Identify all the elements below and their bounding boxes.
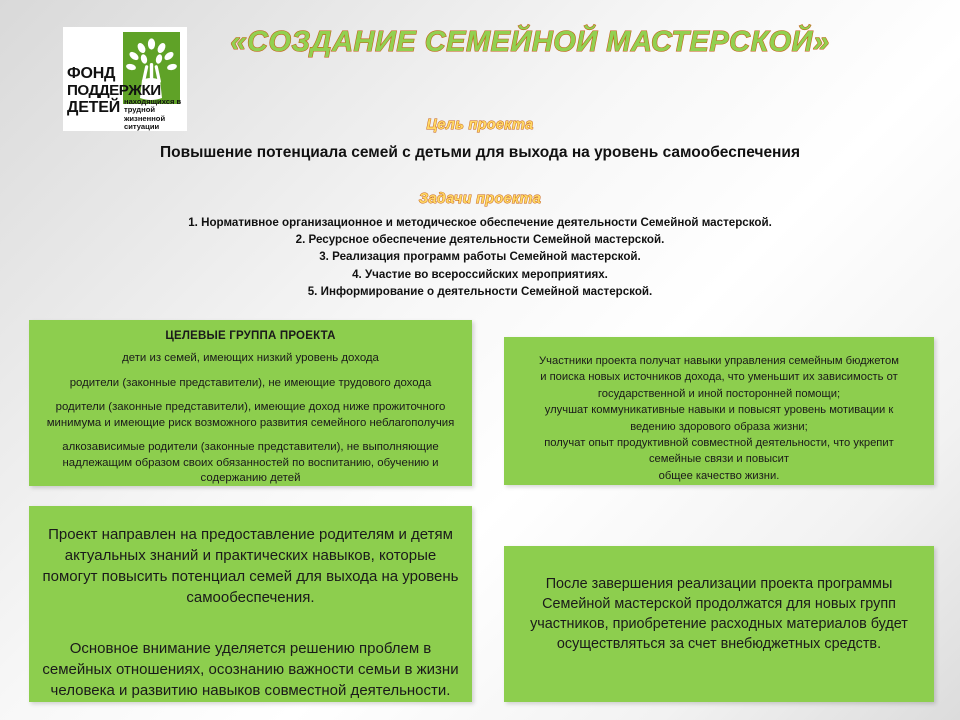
target-group-paragraph: дети из семей, имеющих низкий уровень до… xyxy=(37,351,464,367)
target-group-box: ЦЕЛЕВЫЕ ГРУППА ПРОЕКТА дети из семей, им… xyxy=(29,320,472,486)
target-group-paragraph: родители (законные представители), имеющ… xyxy=(37,400,464,431)
tasks-list: 1. Нормативное организационное и методич… xyxy=(0,214,960,300)
task-item: 4. Участие во всероссийских мероприятиях… xyxy=(0,266,960,283)
project-direction-paragraph: Проект направлен на предоставление родит… xyxy=(39,524,462,608)
task-item: 3. Реализация программ работы Семейной м… xyxy=(0,248,960,265)
project-direction-paragraph: Основное внимание уделяется решению проб… xyxy=(39,638,462,701)
target-group-body: дети из семей, имеющих низкий уровень до… xyxy=(37,351,464,487)
outcome-line: государственной и иной посторонней помощ… xyxy=(510,386,928,402)
fund-logo-line1: ФОНД xyxy=(67,65,183,82)
goal-heading: Цель проекта xyxy=(0,117,960,133)
target-group-paragraph: родители (законные представители), не им… xyxy=(37,376,464,392)
outcome-line: Участники проекта получат навыки управле… xyxy=(510,353,928,369)
outcome-line: и поиска новых источников дохода, что ум… xyxy=(510,369,928,385)
tasks-heading: Задачи проекта xyxy=(0,191,960,207)
outcome-line: получат опыт продуктивной совместной дея… xyxy=(510,435,928,451)
outcome-line: ведению здорового образа жизни; xyxy=(510,419,928,435)
sustainability-box: После завершения реализации проекта прог… xyxy=(504,546,934,702)
page-title: «СОЗДАНИЕ СЕМЕЙНОЙ МАСТЕРСКОЙ» xyxy=(190,26,870,59)
fund-logo: ФОНД ПОДДЕРЖКИ ДЕТЕЙ находящихся в трудн… xyxy=(63,27,187,131)
sustainability-body: После завершения реализации проекта прог… xyxy=(512,574,926,654)
target-group-paragraph: алкозависимые родители (законные предста… xyxy=(37,440,464,487)
target-group-title: ЦЕЛЕВЫЕ ГРУППА ПРОЕКТА xyxy=(37,330,464,342)
task-item: 5. Информирование о деятельности Семейно… xyxy=(0,283,960,300)
sustainability-paragraph: После завершения реализации проекта прог… xyxy=(512,574,926,654)
outcome-line: улучшат коммуникативные навыки и повысят… xyxy=(510,402,928,418)
outcome-line: общее качество жизни. xyxy=(510,468,928,484)
task-item: 1. Нормативное организационное и методич… xyxy=(0,214,960,231)
outcomes-box: Участники проекта получат навыки управле… xyxy=(504,337,934,485)
project-direction-body: Проект направлен на предоставление родит… xyxy=(39,524,462,701)
project-direction-box: Проект направлен на предоставление родит… xyxy=(29,506,472,702)
goal-text: Повышение потенциала семей с детьми для … xyxy=(0,144,960,162)
outcomes-body: Участники проекта получат навыки управле… xyxy=(510,353,928,484)
outcome-line: семейные связи и повысит xyxy=(510,451,928,467)
slide-canvas: ФОНД ПОДДЕРЖКИ ДЕТЕЙ находящихся в трудн… xyxy=(0,0,960,720)
task-item: 2. Ресурсное обеспечение деятельности Се… xyxy=(0,231,960,248)
